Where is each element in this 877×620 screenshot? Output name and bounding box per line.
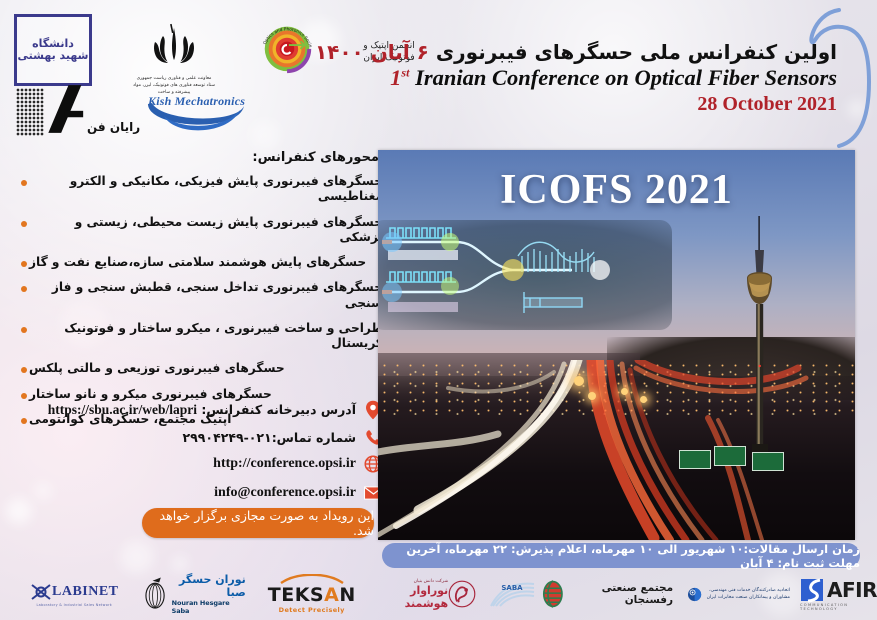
opsi-logo: Optics and Photonics Society of Iran [256,16,318,76]
iran-presidency-caption: معاونت علمی و فناوری ریاست جمهوری [128,76,220,83]
contact-phone-label: شماره تماس:۰۲۱-۲۹۹۰۴۲۴۹ [183,430,356,445]
iran-presidency-logo: معاونت علمی و فناوری ریاست جمهوری ستاد ت… [128,22,220,96]
title-persian-text: اولین کنفرانس ملی حسگرهای فیبرنوری [436,40,837,64]
topic-item: حسگرهای فیبرنوری پایش فیزیکی، مکانیکی و … [13,174,383,205]
bullet-icon [21,393,27,399]
nooravar-label: نوراوار هوشمند [378,584,448,610]
bullet-icon [21,286,27,292]
contact-phone-title: شماره تماس: [272,430,356,445]
date-persian: ۶ آبان ۱۴۰۰ [315,40,429,64]
safir-sublabel: COMMUNICATION TECHNOLOGY [800,603,877,611]
topic-label: حسگرهای پایش هوشمند سلامتی سازه،صنایع نف… [29,255,366,270]
sbu-logo-frame: دانشگاه شهید بهشتی [14,14,92,86]
sbu-logo-label: دانشگاه شهید بهشتی [17,38,89,61]
labinet-mark-icon [30,581,52,603]
rayan-fan-mark-icon [41,82,85,136]
nouran-hesgare-saba-logo: نوران حسگر صبا Nouran Hesgare Saba [141,573,246,615]
saba-swoosh-icon: SABA [490,580,536,608]
contact-email: info@conference.opsi.ir [13,483,383,503]
rafsanjan-label: مجتمع صنعتی رفسنجان [571,582,673,606]
rayan-fan-dot-matrix-icon [16,88,44,136]
deadline-bar: زمان ارسال مقالات:۱۰ شهریور الی ۱۰ مهرما… [382,543,860,568]
conference-poster: دانشگاه شهید بهشتی معاونت علمی و فناوری … [0,0,877,620]
union-of-technical-services-logo: اتحادیه صادرکنندگان خدمات فنی مهندسی، مش… [687,579,790,609]
tehran-milad-tower-night-highway-photo: ICOFS 2021 [378,150,855,540]
sbu-logo: دانشگاه شهید بهشتی [14,14,92,86]
safir-mark-icon [800,577,826,603]
title-english: 1st Iranian Conference on Optical Fiber … [367,65,837,91]
contact-phone-value: ۰۲۱-۲۹۹۰۴۲۴۹ [183,430,272,445]
bullet-icon [21,261,27,267]
contact-website: http://conference.opsi.ir [13,454,383,474]
topic-label: حسگرهای فیبرنوری تداخل سنجی، قطبش سنجی و… [29,280,383,311]
teksan-logo: TEKSAN Detect Precisely [268,574,356,614]
majtame-sanati-rafsanjan-logo: مجتمع صنعتی رفسنجان [538,577,673,611]
contact-address-title: آدرس دبیرخانه کنفرانس: [201,402,356,417]
title-persian: اولین کنفرانس ملی حسگرهای فیبرنوری ۶ آبا… [367,40,837,64]
opsi-rainbow-icon: Optics and Photonics Society of Iran [256,16,318,76]
ordinal-number: 1st [390,65,409,90]
topics-heading: محورهای کنفرانس: [13,150,379,165]
teksan-label: TEKSAN [268,584,356,606]
contacts-section: آدرس دبیرخانه کنفرانس: https://sbu.ac.ir… [13,400,383,510]
contact-address-value[interactable]: https://sbu.ac.ir/web/lapri [48,402,197,418]
street-lamp-glow [574,376,584,386]
labinet-sublabel: Laboratory & Industrial Sales Network [36,603,112,607]
milad-tower-icon [731,216,789,456]
nouran-label-fa: نوران حسگر صبا [172,573,246,599]
topic-item: طراحی و ساخت فیبرنوری ، میکرو ساختار و ف… [13,321,383,352]
safir-label: AFIR [827,578,877,602]
topic-label: حسگرهای فیبرنوری پایش فیزیکی، مکانیکی و … [29,174,383,205]
topic-item: حسگرهای فیبرنوری پایش زیست محیطی، زیستی … [13,215,383,246]
nouran-mark-icon [141,574,169,614]
nooravar-hooshmand-logo: شرکت دانش بنیان نوراوار هوشمند [374,577,476,611]
topic-item: حسگرهای فیبرنوری توزیعی و مالتی پلکس [13,361,383,376]
street-lamp-glow [588,392,596,400]
kish-swoosh-icon [140,90,252,136]
rafsanjan-mark-icon [538,577,568,611]
date-english: 28 October 2021 [367,93,837,116]
kish-mechatronics-logo: Kish Mechatronics [140,90,252,138]
topics-section: محورهای کنفرانس: حسگرهای فیبرنوری پایش ف… [13,150,383,437]
iran-emblem-icon [146,22,202,74]
ordinal-suffix: st [401,66,409,80]
road-sign [679,450,711,469]
road-sign [752,452,784,471]
road-sign [714,446,746,466]
labinet-logo: LABINET Laboratory & Industrial Sales Ne… [30,581,119,607]
rayan-fan-label: رایان فن [87,120,140,134]
topic-label: حسگرهای فیبرنوری پایش زیست محیطی، زیستی … [29,215,383,246]
topic-label: طراحی و ساخت فیبرنوری ، میکرو ساختار و ف… [29,321,383,352]
bullet-icon [21,180,27,186]
virtual-event-notice: این رویداد به صورت مجازی برگزار خواهد شد… [142,508,374,538]
safir-logo: AFIR COMMUNICATION TECHNOLOGY [800,577,877,611]
conference-headline: اولین کنفرانس ملی حسگرهای فیبرنوری ۶ آبا… [367,40,837,116]
bullet-icon [21,221,27,227]
photonic-chip-illustration [378,220,672,330]
bullet-icon [21,327,27,333]
nooravar-mark-icon [448,577,476,611]
saba-logo: SABA [490,580,536,608]
nouran-label-en: Nouran Hesgare Saba [172,599,246,615]
teksan-sublabel: Detect Precisely [279,606,345,614]
rayan-fan-logo: رایان فن [16,82,140,136]
bokeh-decoration [250,120,280,150]
union-mark-icon [687,579,702,609]
title-english-text: Iranian Conference on Optical Fiber Sens… [415,65,837,90]
waveguide-diagram-icon [378,220,672,330]
icofs-title: ICOFS 2021 [378,166,855,214]
labinet-label: LABINET [52,584,119,600]
contact-email-value[interactable]: info@conference.opsi.ir [214,485,356,501]
bullet-icon [21,367,27,373]
topic-item: حسگرهای پایش هوشمند سلامتی سازه،صنایع نف… [13,255,383,270]
contact-address: آدرس دبیرخانه کنفرانس: https://sbu.ac.ir… [13,400,383,420]
topic-label: حسگرهای فیبرنوری توزیعی و مالتی پلکس [29,361,285,376]
teksan-arc-icon [277,574,347,584]
contact-phone: شماره تماس:۰۲۱-۲۹۹۰۴۲۴۹ [13,427,383,447]
sponsor-strip: LABINET Laboratory & Industrial Sales Ne… [0,568,877,620]
contact-address-label: آدرس دبیرخانه کنفرانس: https://sbu.ac.ir… [48,402,356,418]
union-label: اتحادیه صادرکنندگان خدمات فنی مهندسی، مش… [706,587,790,602]
topic-item: حسگرهای فیبرنوری تداخل سنجی، قطبش سنجی و… [13,280,383,311]
saba-label: SABA [502,584,524,592]
contact-website-value[interactable]: http://conference.opsi.ir [213,456,356,472]
